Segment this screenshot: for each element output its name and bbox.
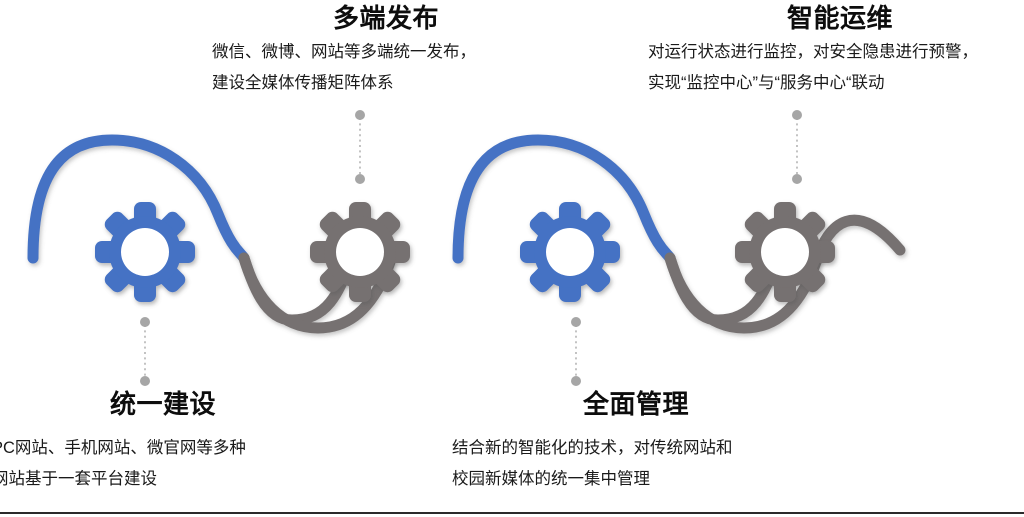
bottom-divider: [0, 512, 1024, 514]
item-2-text-block: 多端发布 微信、微博、网站等多端统一发布， 建设全媒体传播矩阵体系: [212, 2, 542, 100]
gear-1[interactable]: [95, 202, 195, 302]
connector-2: [355, 110, 365, 184]
connector-1: [140, 317, 150, 386]
item-2-heading: 多端发布: [212, 2, 542, 35]
item-3-body-line-1: 结合新的智能化的技术，对传统网站和: [452, 433, 812, 465]
item-2-body: 微信、微博、网站等多端统一发布， 建设全媒体传播矩阵体系: [212, 37, 542, 100]
item-4-body-line-2: 实现“监控中心”与“服务中心“联动: [648, 68, 1024, 100]
item-1-text-block: 统一建设 PC网站、手机网站、微官网等多种 网站基于一套平台建设: [0, 388, 312, 496]
item-4-body-line-1: 对运行状态进行监控，对安全隐患进行预警，: [648, 37, 1024, 69]
item-4-text-block: 智能运维 对运行状态进行监控，对安全隐患进行预警， 实现“监控中心”与“服务中心…: [648, 2, 1024, 100]
infographic-canvas: 统一建设 PC网站、手机网站、微官网等多种 网站基于一套平台建设 多端发布 微信…: [0, 0, 1024, 517]
item-3-text-block: 全面管理 结合新的智能化的技术，对传统网站和 校园新媒体的统一集中管理: [452, 388, 812, 496]
item-4-heading: 智能运维: [648, 2, 1024, 35]
connector-4: [792, 110, 802, 184]
gear-2[interactable]: [310, 202, 410, 302]
item-3-body-line-2: 校园新媒体的统一集中管理: [452, 464, 812, 496]
item-3-body: 结合新的智能化的技术，对传统网站和 校园新媒体的统一集中管理: [452, 433, 812, 496]
item-3-heading: 全面管理: [452, 388, 812, 421]
connector-3: [571, 317, 581, 386]
item-1-heading: 统一建设: [0, 388, 312, 421]
item-2-body-line-1: 微信、微博、网站等多端统一发布，: [212, 37, 542, 69]
item-1-body-line-2: 网站基于一套平台建设: [0, 464, 312, 496]
gear-3[interactable]: [520, 202, 620, 302]
item-1-body-line-1: PC网站、手机网站、微官网等多种: [0, 433, 312, 465]
gear-4[interactable]: [735, 202, 835, 302]
item-1-body: PC网站、手机网站、微官网等多种 网站基于一套平台建设: [0, 433, 312, 496]
item-4-body: 对运行状态进行监控，对安全隐患进行预警， 实现“监控中心”与“服务中心“联动: [648, 37, 1024, 100]
item-2-body-line-2: 建设全媒体传播矩阵体系: [212, 68, 542, 100]
